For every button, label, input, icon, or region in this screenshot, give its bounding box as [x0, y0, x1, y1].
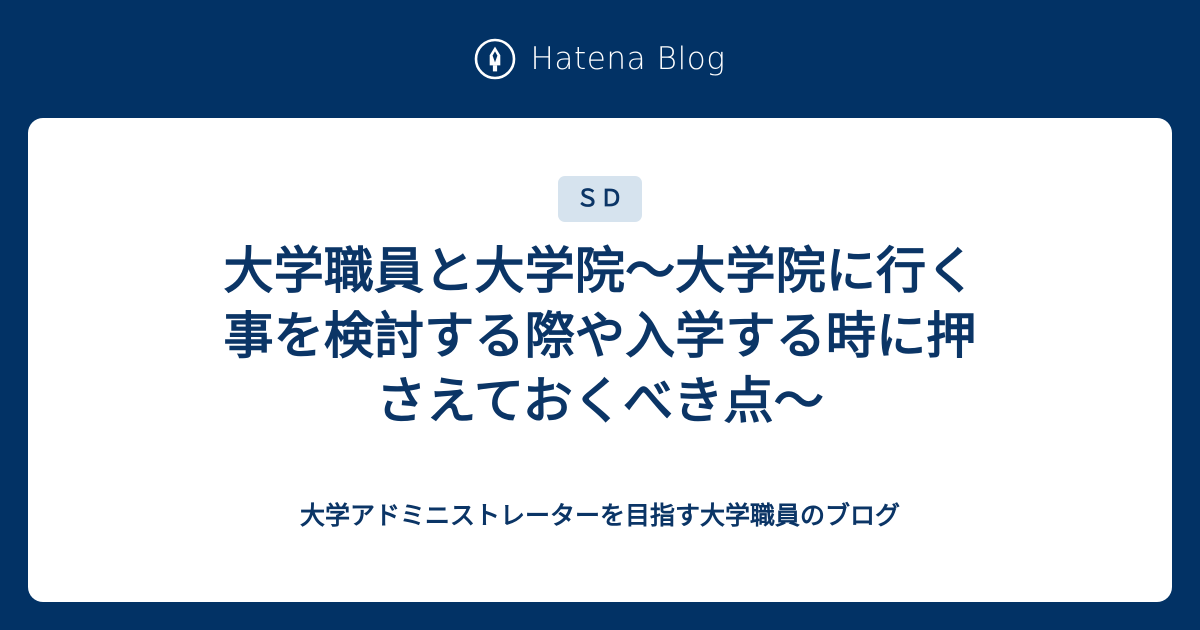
badge-row: ＳＤ	[28, 176, 1172, 222]
ogp-card-root: Hatena Blog ＳＤ 大学職員と大学院〜大学院に行く事を検討する際や入学…	[0, 0, 1200, 630]
hatena-blog-brand: Hatena Blog	[0, 0, 1200, 118]
blog-subtitle: 大学アドミニストレーターを目指す大学職員のブログ	[28, 500, 1172, 533]
hatena-blog-wordmark: Hatena Blog	[530, 44, 725, 75]
entry-title: 大学職員と大学院〜大学院に行く事を検討する際や入学する時に押さえておくべき点〜	[180, 239, 1020, 434]
hatena-blog-logo	[474, 38, 516, 80]
category-badge[interactable]: ＳＤ	[558, 176, 642, 222]
entry-card: ＳＤ 大学職員と大学院〜大学院に行く事を検討する際や入学する時に押さえておくべき…	[28, 118, 1172, 602]
fountain-pen-nib-circle-icon	[474, 38, 516, 80]
